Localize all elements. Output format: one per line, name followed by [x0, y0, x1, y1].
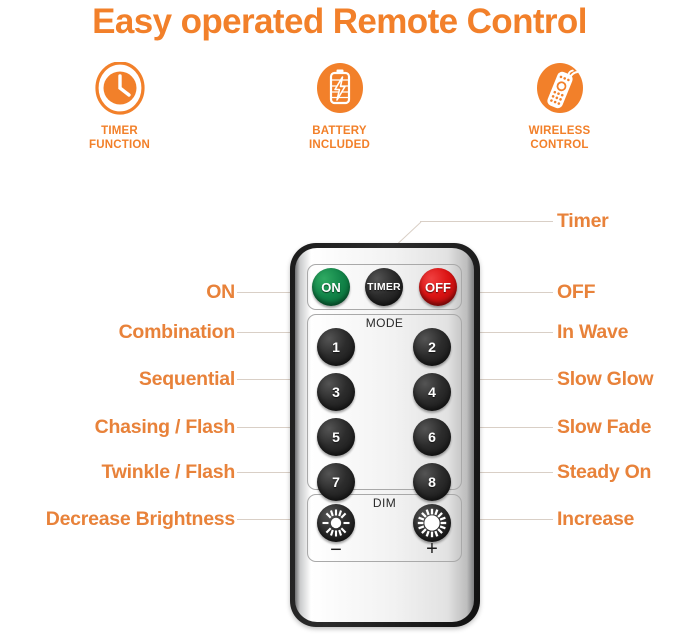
feature-timer-function: TIMER FUNCTION — [65, 62, 175, 152]
remote-mode-button-6[interactable]: 6 — [413, 418, 451, 456]
product-infographic: Easy operated Remote Control TIMER FUNCT… — [0, 0, 679, 635]
remote-mode-button-8[interactable]: 8 — [413, 463, 451, 501]
remote-mode-button-7[interactable]: 7 — [317, 463, 355, 501]
callout-slow-glow: Slow Glow — [557, 369, 653, 389]
leader-line-combination — [237, 332, 293, 333]
callout-in-wave: In Wave — [557, 322, 628, 342]
remote-control: MODE DIM ON TIMER OFF 1 2 3 4 5 6 7 8 — [290, 243, 480, 627]
leader-line-chasing-flash — [237, 427, 293, 428]
remote-dim-decrease-button[interactable] — [317, 504, 355, 542]
remote-on-button[interactable]: ON — [312, 268, 350, 306]
leader-line-slow-fade — [478, 427, 553, 428]
leader-line-on — [237, 292, 293, 293]
sun-small-icon — [321, 508, 351, 538]
leader-line-twinkle-flash — [237, 472, 293, 473]
leader-line-sequential — [237, 379, 293, 380]
feature-wireless-control: WIRELESS CONTROL — [505, 62, 615, 152]
remote-mode-button-3[interactable]: 3 — [317, 373, 355, 411]
callout-combination: Combination — [119, 322, 235, 342]
remote-mode-button-5[interactable]: 5 — [317, 418, 355, 456]
page-title: Easy operated Remote Control — [0, 0, 679, 44]
callout-off: OFF — [557, 282, 595, 302]
callout-chasing-flash: Chasing / Flash — [95, 417, 235, 437]
callout-timer: Timer — [557, 211, 609, 231]
feature-label: BATTERY INCLUDED — [309, 125, 370, 152]
remote-mode-button-2[interactable]: 2 — [413, 328, 451, 366]
remote-timer-button[interactable]: TIMER — [365, 268, 403, 306]
callout-steady-on: Steady On — [557, 462, 651, 482]
remote-faceplate: MODE DIM ON TIMER OFF 1 2 3 4 5 6 7 8 — [295, 248, 474, 622]
leader-line-slow-glow — [478, 379, 553, 380]
clock-icon — [94, 62, 146, 120]
dim-minus-sign: − — [317, 539, 355, 562]
remote-dim-increase-button[interactable] — [413, 504, 451, 542]
feature-label: TIMER FUNCTION — [89, 125, 150, 152]
remote-off-button[interactable]: OFF — [419, 268, 457, 306]
callout-twinkle-flash: Twinkle / Flash — [101, 462, 235, 482]
sun-large-icon — [417, 508, 447, 538]
feature-label: WIRELESS CONTROL — [529, 125, 591, 152]
leader-line-off — [478, 292, 553, 293]
callout-increase: Increase — [557, 509, 634, 529]
leader-line-decrease-brightness — [237, 519, 293, 520]
dim-plus-sign: + — [413, 538, 451, 561]
callout-on: ON — [206, 282, 235, 302]
remote-mode-button-1[interactable]: 1 — [317, 328, 355, 366]
remote-wave-icon — [534, 62, 586, 120]
leader-line-timer-horizontal — [420, 221, 553, 222]
leader-line-in-wave — [478, 332, 553, 333]
leader-line-steady-on — [478, 472, 553, 473]
feature-battery-included: BATTERY INCLUDED — [285, 62, 395, 152]
callout-slow-fade: Slow Fade — [557, 417, 651, 437]
callout-decrease-brightness: Decrease Brightness — [46, 509, 235, 529]
remote-mode-button-4[interactable]: 4 — [413, 373, 451, 411]
callout-sequential: Sequential — [139, 369, 235, 389]
battery-icon — [314, 62, 366, 120]
feature-badges: TIMER FUNCTION BATTERY INCLUDED — [0, 62, 679, 152]
leader-line-increase — [478, 519, 553, 520]
